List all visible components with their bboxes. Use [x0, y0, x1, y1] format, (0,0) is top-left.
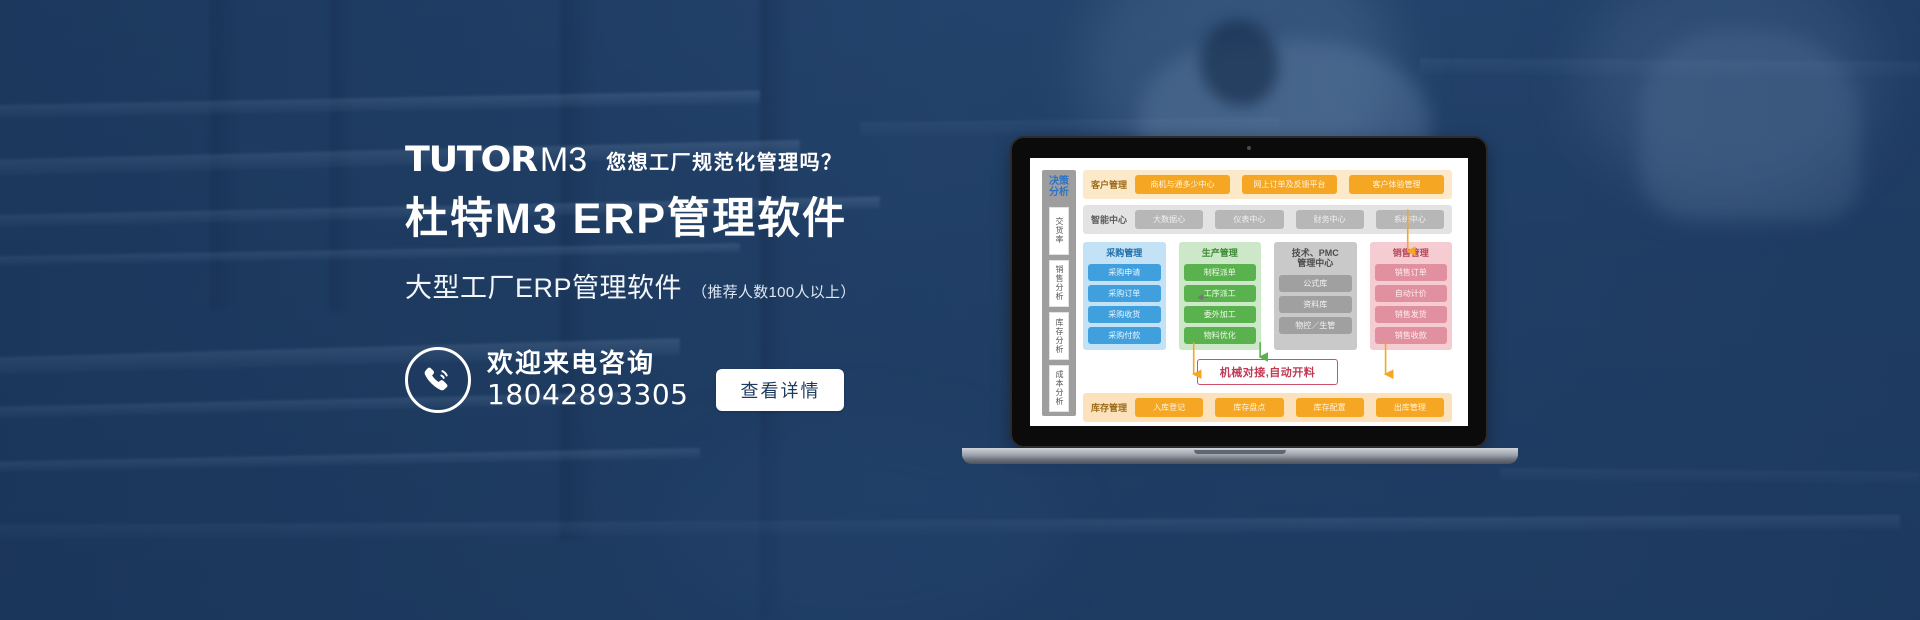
module-item[interactable]: 自动计价 [1375, 285, 1448, 302]
module-item[interactable]: 采购订单 [1088, 285, 1161, 302]
band-pill[interactable]: 网上订单及反馈平台 [1242, 175, 1337, 194]
diagram-module-production: 生产管理 制程派单 工序派工 委外加工 物料优化 [1179, 242, 1262, 350]
module-item[interactable]: 采购付款 [1088, 327, 1161, 344]
diagram-sidebar-item[interactable]: 交货率 [1049, 207, 1069, 255]
band-pill[interactable]: 大数据心 [1135, 210, 1203, 229]
page-title: 杜特M3 ERP管理软件 [405, 194, 1025, 246]
diagram-main-column: 客户管理 商机与通多少中心 网上订单及反馈平台 客户体验管理 智能中心 大 [1083, 170, 1452, 416]
module-title: 技术、PMC 管理中心 [1292, 247, 1339, 271]
hero-subtitle-note: （推荐人数100人以上） [692, 281, 856, 302]
view-details-button[interactable]: 查看详情 [716, 369, 844, 411]
module-item[interactable]: 工序派工 [1184, 285, 1257, 302]
band-label: 智能中心 [1091, 213, 1127, 226]
diagram-callout: 机械对接,自动开料 [1197, 359, 1339, 385]
erp-architecture-diagram: 决策分析 交货率 销售分析 库存分析 成本分析 客户管理 商机与通多少中心 [1030, 158, 1468, 426]
contact-text-block: 欢迎来电咨询 18042893305 [487, 349, 688, 409]
laptop-mockup: 决策分析 交货率 销售分析 库存分析 成本分析 客户管理 商机与通多少中心 [960, 136, 1520, 486]
module-item[interactable]: 物控／生管 [1279, 317, 1352, 334]
module-title: 销售管理 [1393, 247, 1429, 260]
diagram-module-tech-pmc: 技术、PMC 管理中心 公式库 资料库 物控／生管 [1274, 242, 1357, 350]
diagram-sidebar-item[interactable]: 销售分析 [1049, 260, 1069, 308]
hero-subtitle-main: 大型工厂ERP管理软件 [405, 266, 682, 305]
band-items: 入库登记 库存盘点 库存配置 出库管理 [1135, 398, 1444, 417]
brand-logo-primary: TUTOR [405, 143, 537, 178]
diagram-sidebar-item[interactable]: 库存分析 [1049, 312, 1069, 360]
module-item[interactable]: 销售订单 [1375, 264, 1448, 281]
contact-phone-number[interactable]: 18042893305 [487, 380, 688, 410]
brand-logo-secondary: M3 [540, 143, 587, 177]
hero-banner: TUTOR M3 您想工厂规范化管理吗？ 杜特M3 ERP管理软件 大型工厂ER… [0, 0, 1920, 620]
band-pill[interactable]: 商机与通多少中心 [1135, 175, 1230, 194]
diagram-band-inventory: 库存管理 入库登记 库存盘点 库存配置 出库管理 [1083, 393, 1452, 422]
module-item[interactable]: 采购收货 [1088, 306, 1161, 323]
brand-tagline: 您想工厂规范化管理吗？ [606, 146, 843, 175]
band-pill[interactable]: 入库登记 [1135, 398, 1203, 417]
hero-subtitle: 大型工厂ERP管理软件 （推荐人数100人以上） [405, 266, 1025, 305]
diagram-band-customer: 客户管理 商机与通多少中心 网上订单及反馈平台 客户体验管理 [1083, 170, 1452, 199]
module-item[interactable]: 制程派单 [1184, 264, 1257, 281]
phone-ringing-icon [405, 347, 471, 413]
diagram-sidebar-item[interactable]: 成本分析 [1049, 365, 1069, 413]
brand-logo-row: TUTOR M3 您想工厂规范化管理吗？ [405, 140, 1025, 180]
band-pill[interactable]: 库存盘点 [1215, 398, 1283, 417]
module-item[interactable]: 物料优化 [1184, 327, 1257, 344]
laptop-screen: 决策分析 交货率 销售分析 库存分析 成本分析 客户管理 商机与通多少中心 [1030, 158, 1468, 426]
diagram-module-purchase: 采购管理 采购申请 采购订单 采购收货 采购付款 [1083, 242, 1166, 350]
diagram-module-sales: 销售管理 销售订单 自动计价 销售发货 销售收款 [1370, 242, 1453, 350]
diagram-sidebar: 决策分析 交货率 销售分析 库存分析 成本分析 [1042, 170, 1076, 416]
diagram-callout-row: 机械对接,自动开料 [1083, 356, 1452, 387]
webcam-icon [1247, 146, 1251, 150]
diagram-band-smart-center: 智能中心 大数据心 仪表中心 财务中心 系统中心 [1083, 205, 1452, 234]
diagram-sidebar-header: 决策分析 [1045, 174, 1073, 202]
module-item[interactable]: 销售收款 [1375, 327, 1448, 344]
band-pill[interactable]: 系统中心 [1376, 210, 1444, 229]
module-item[interactable]: 采购申请 [1088, 264, 1161, 281]
band-pill[interactable]: 仪表中心 [1215, 210, 1283, 229]
module-title: 生产管理 [1202, 247, 1238, 260]
laptop-base [962, 448, 1518, 464]
diagram-module-row: 采购管理 采购申请 采购订单 采购收货 采购付款 生产管理 制程派单 工序派工 … [1083, 240, 1452, 350]
band-pill[interactable]: 财务中心 [1296, 210, 1364, 229]
contact-cta-row: 欢迎来电咨询 18042893305 查看详情 [405, 347, 1025, 413]
band-pill[interactable]: 出库管理 [1376, 398, 1444, 417]
band-label: 客户管理 [1091, 178, 1127, 191]
band-pill[interactable]: 客户体验管理 [1349, 175, 1444, 194]
contact-title: 欢迎来电咨询 [487, 349, 688, 377]
laptop-lid: 决策分析 交货率 销售分析 库存分析 成本分析 客户管理 商机与通多少中心 [1010, 136, 1488, 448]
band-label: 库存管理 [1091, 401, 1127, 414]
module-item[interactable]: 销售发货 [1375, 306, 1448, 323]
hero-content: TUTOR M3 您想工厂规范化管理吗？ 杜特M3 ERP管理软件 大型工厂ER… [405, 140, 1025, 413]
module-title: 采购管理 [1106, 247, 1142, 260]
module-item[interactable]: 公式库 [1279, 275, 1352, 292]
module-item[interactable]: 资料库 [1279, 296, 1352, 313]
band-pill[interactable]: 库存配置 [1296, 398, 1364, 417]
band-items: 商机与通多少中心 网上订单及反馈平台 客户体验管理 [1135, 175, 1444, 194]
band-items: 大数据心 仪表中心 财务中心 系统中心 [1135, 210, 1444, 229]
module-item[interactable]: 委外加工 [1184, 306, 1257, 323]
